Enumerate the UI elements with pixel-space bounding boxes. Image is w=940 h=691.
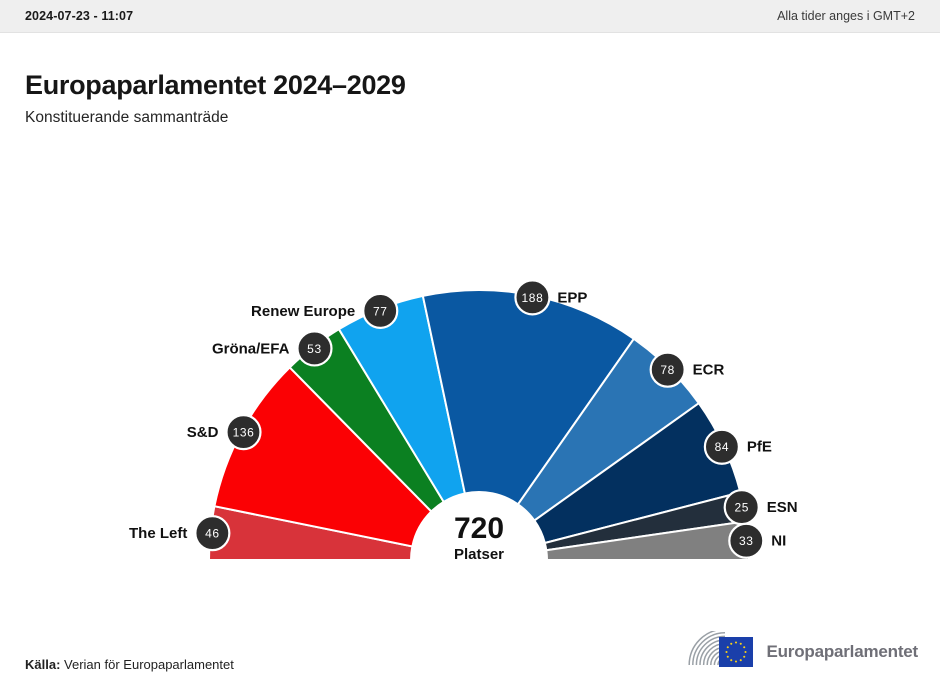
- eu-star-icon: [727, 646, 729, 648]
- eu-star-icon: [740, 659, 742, 661]
- party-label-the-left: The Left: [129, 525, 187, 542]
- top-utility-bar: 2024-07-23 - 11:07 Alla tider anges i GM…: [0, 0, 940, 33]
- seat-distribution-svg: The LeftS&DGröna/EFARenew EuropeEPPECRPf…: [0, 230, 940, 580]
- total-seats-value: 720: [454, 512, 504, 545]
- seat-badge-value-ecr: 78: [660, 363, 675, 377]
- seat-badge-value-the-left: 46: [205, 527, 220, 541]
- current-datetime: 2024-07-23 - 11:07: [25, 9, 133, 23]
- eu-star-icon: [731, 659, 733, 661]
- source-label: Källa:: [25, 657, 60, 672]
- party-label-s-d: S&D: [187, 424, 219, 441]
- center-total-group: 720 Platser: [454, 512, 504, 563]
- eu-star-icon: [735, 660, 737, 662]
- party-label-renew-europe: Renew Europe: [251, 303, 355, 320]
- seat-badge-value-s-d: 136: [233, 426, 255, 440]
- eu-star-icon: [735, 641, 737, 643]
- party-label-gr-na-efa: Gröna/EFA: [212, 340, 290, 357]
- eu-star-icon: [744, 656, 746, 658]
- european-parliament-logo: Europaparlamentet: [679, 630, 918, 674]
- seat-badge-value-esn: 25: [734, 501, 749, 515]
- eu-star-icon: [744, 646, 746, 648]
- page-subtitle: Konstituerande sammanträde: [25, 109, 228, 127]
- page-title: Europaparlamentet 2024–2029: [25, 70, 406, 101]
- timezone-note: Alla tider anges i GMT+2: [777, 9, 915, 23]
- eu-star-icon: [740, 643, 742, 645]
- party-label-epp: EPP: [557, 289, 587, 306]
- source-line: Källa: Verian för Europaparlamentet: [25, 657, 234, 672]
- eu-star-icon: [727, 656, 729, 658]
- seat-badge-value-epp: 188: [522, 291, 544, 305]
- logo-wordmark: Europaparlamentet: [766, 642, 918, 662]
- seat-badge-value-gr-na-efa: 53: [307, 342, 322, 356]
- eu-star-icon: [745, 651, 747, 653]
- seat-badge-value-renew-europe: 77: [373, 304, 388, 318]
- parliament-hemicycle-logo-icon: [679, 631, 757, 673]
- hemicycle-chart: The LeftS&DGröna/EFARenew EuropeEPPECRPf…: [0, 230, 940, 580]
- seat-badge-value-ni: 33: [739, 534, 754, 548]
- party-label-pfe: PfE: [747, 439, 772, 456]
- party-label-ni: NI: [771, 533, 786, 550]
- total-seats-caption: Platser: [454, 546, 504, 563]
- eu-star-icon: [731, 643, 733, 645]
- source-value: Verian för Europaparlamentet: [64, 657, 234, 672]
- seat-badge-value-pfe: 84: [715, 440, 730, 454]
- eu-star-icon: [726, 651, 728, 653]
- party-label-ecr: ECR: [693, 362, 725, 379]
- party-label-esn: ESN: [767, 499, 798, 516]
